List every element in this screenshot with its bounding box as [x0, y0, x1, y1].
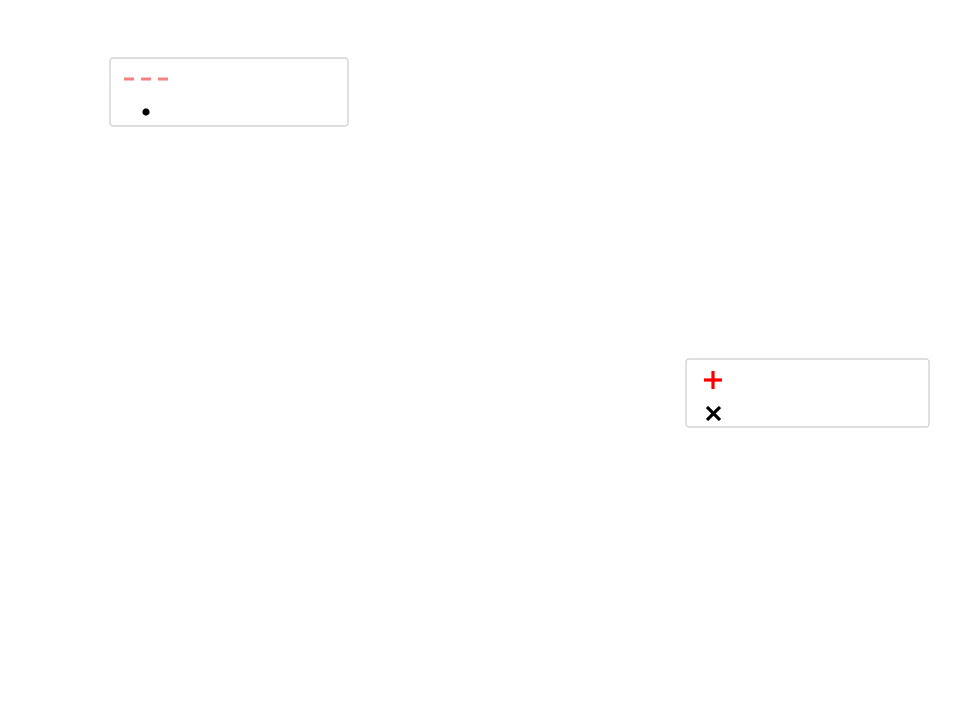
bottom-legend-box: [686, 359, 929, 427]
top-legend-box: [110, 58, 348, 126]
plot-svg: [0, 0, 960, 720]
top-legend[interactable]: [110, 58, 348, 126]
panel-bottom: [686, 359, 929, 427]
measurements-legend-swatch: [142, 108, 149, 115]
figure-root: [0, 0, 960, 720]
bottom-legend[interactable]: [686, 359, 929, 427]
